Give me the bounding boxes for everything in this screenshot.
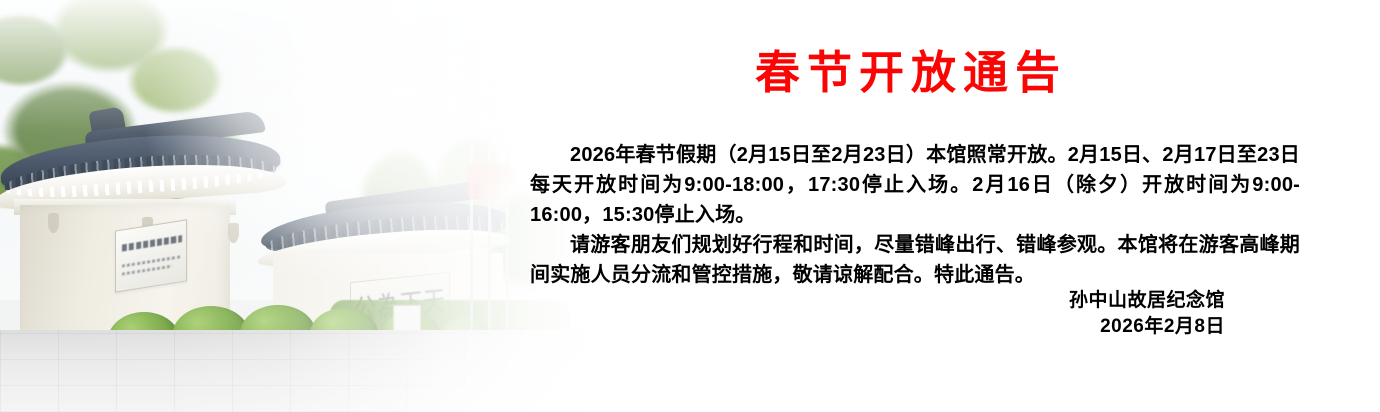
signature-date: 2026年2月8日 — [530, 314, 1225, 340]
notice-paragraph: 2026年春节假期（2月15日至2月23日）本馆照常开放。2月15日、2月17日… — [530, 140, 1300, 230]
spring-festival-notice-banner: 公為下天 — [0, 0, 1380, 412]
signature-organization: 孙中山故居纪念馆 — [530, 288, 1225, 314]
notice-content: 春节开放通告 2026年春节假期（2月15日至2月23日）本馆照常开放。2月15… — [520, 0, 1380, 412]
notice-signature: 孙中山故居纪念馆 2026年2月8日 — [530, 288, 1225, 340]
notice-paragraph: 请游客朋友们规划好行程和时间，尽量错峰出行、错峰参观。本馆将在游客高峰期间实施人… — [530, 230, 1300, 290]
notice-title: 春节开放通告 — [755, 50, 1067, 95]
notice-body: 2026年春节假期（2月15日至2月23日）本馆照常开放。2月15日、2月17日… — [530, 140, 1300, 290]
